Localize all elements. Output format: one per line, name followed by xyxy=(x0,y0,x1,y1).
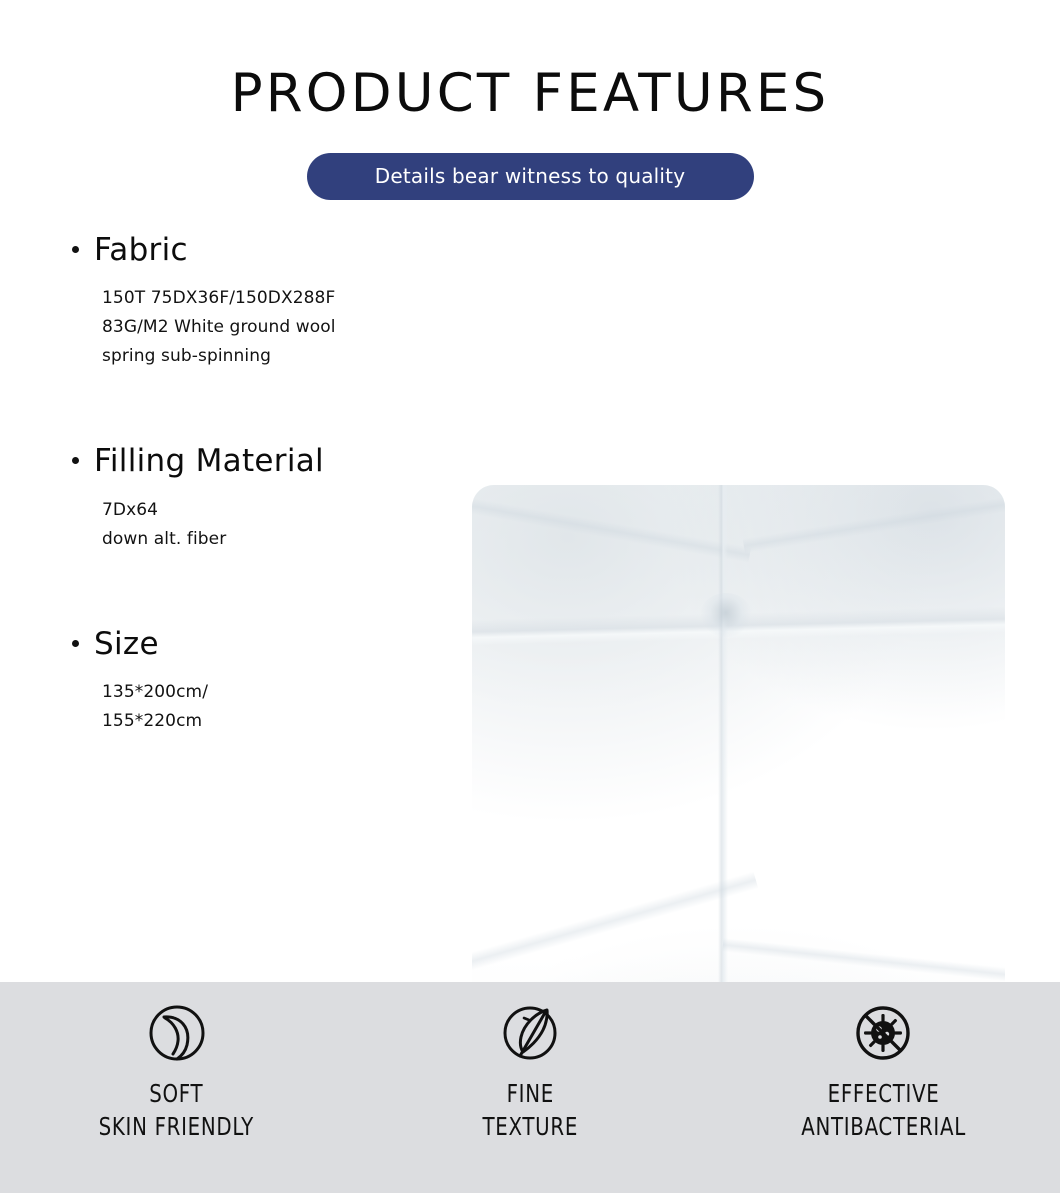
subtitle-badge: Details bear witness to quality xyxy=(307,153,754,200)
benefit-label-line2: ANTIBACTERIAL xyxy=(801,1110,966,1143)
benefit-item-effective-antibacterial: EFFECTIVE ANTIBACTERIAL xyxy=(707,982,1060,1193)
page-header: PRODUCT FEATURES Details bear witness to… xyxy=(0,0,1060,200)
feature-title-filling-material: Filling Material xyxy=(94,444,324,478)
no-bacteria-icon xyxy=(853,1003,913,1063)
subtitle-badge-wrapper: Details bear witness to quality xyxy=(0,153,1060,200)
spec-line: down alt. fiber xyxy=(102,525,452,554)
benefit-label-line1: SOFT xyxy=(99,1077,254,1110)
feature-list: Fabric 150T 75DX36F/150DX288F 83G/M2 Whi… xyxy=(72,233,452,737)
feature-title-size: Size xyxy=(94,627,159,661)
feature-heading-fabric: Fabric xyxy=(72,233,452,267)
benefit-label-soft-skin-friendly: SOFT SKIN FRIENDLY xyxy=(99,1077,254,1143)
spec-line: 150T 75DX36F/150DX288F xyxy=(102,284,452,313)
main-content: Fabric 150T 75DX36F/150DX288F 83G/M2 Whi… xyxy=(0,200,1060,915)
feature-heading-size: Size xyxy=(72,627,452,661)
benefit-label-effective-antibacterial: EFFECTIVE ANTIBACTERIAL xyxy=(801,1077,966,1143)
spec-line: spring sub-spinning xyxy=(102,342,452,371)
benefit-label-line1: EFFECTIVE xyxy=(801,1077,966,1110)
feature-block-size: Size 135*200cm/ 155*220cm xyxy=(72,627,452,737)
feature-title-fabric: Fabric xyxy=(94,233,188,267)
page-title: PRODUCT FEATURES xyxy=(0,66,1060,122)
bullet-icon xyxy=(72,246,79,253)
benefit-label-line2: SKIN FRIENDLY xyxy=(99,1110,254,1143)
quill-feather-in-circle-icon xyxy=(500,1003,560,1063)
quilt-stitch-point xyxy=(700,593,752,637)
spec-line: 7Dx64 xyxy=(102,496,452,525)
spec-line: 135*200cm/ xyxy=(102,678,452,707)
bullet-icon xyxy=(72,640,79,647)
feature-specs-size: 135*200cm/ 155*220cm xyxy=(102,678,452,736)
spec-line: 155*220cm xyxy=(102,707,452,736)
spec-line: 83G/M2 White ground wool xyxy=(102,313,452,342)
benefit-label-fine-texture: FINE TEXTURE xyxy=(482,1077,578,1143)
feature-specs-filling-material: 7Dx64 down alt. fiber xyxy=(102,496,452,554)
benefit-item-fine-texture: FINE TEXTURE xyxy=(353,982,706,1193)
feature-block-filling-material: Filling Material 7Dx64 down alt. fiber xyxy=(72,444,452,554)
bullet-icon xyxy=(72,457,79,464)
benefits-strip: SOFT SKIN FRIENDLY FINE TEXTURE xyxy=(0,982,1060,1193)
feature-specs-fabric: 150T 75DX36F/150DX288F 83G/M2 White grou… xyxy=(102,284,452,372)
feature-block-fabric: Fabric 150T 75DX36F/150DX288F 83G/M2 Whi… xyxy=(72,233,452,372)
benefit-item-soft-skin-friendly: SOFT SKIN FRIENDLY xyxy=(0,982,353,1193)
benefit-label-line2: TEXTURE xyxy=(482,1110,578,1143)
feather-in-circle-icon xyxy=(147,1003,207,1063)
feature-heading-filling-material: Filling Material xyxy=(72,444,452,478)
benefit-label-line1: FINE xyxy=(482,1077,578,1110)
